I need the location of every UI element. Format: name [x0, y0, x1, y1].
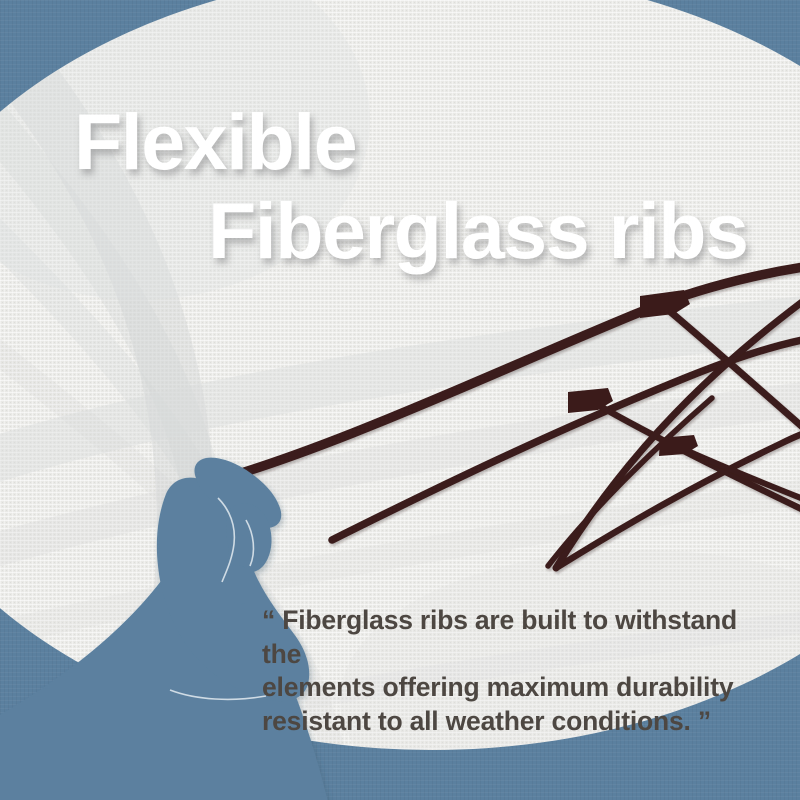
illustration-layer [0, 0, 800, 800]
poster-canvas: Flexible Fiberglass ribs “ Fiberglass ri… [0, 0, 800, 800]
